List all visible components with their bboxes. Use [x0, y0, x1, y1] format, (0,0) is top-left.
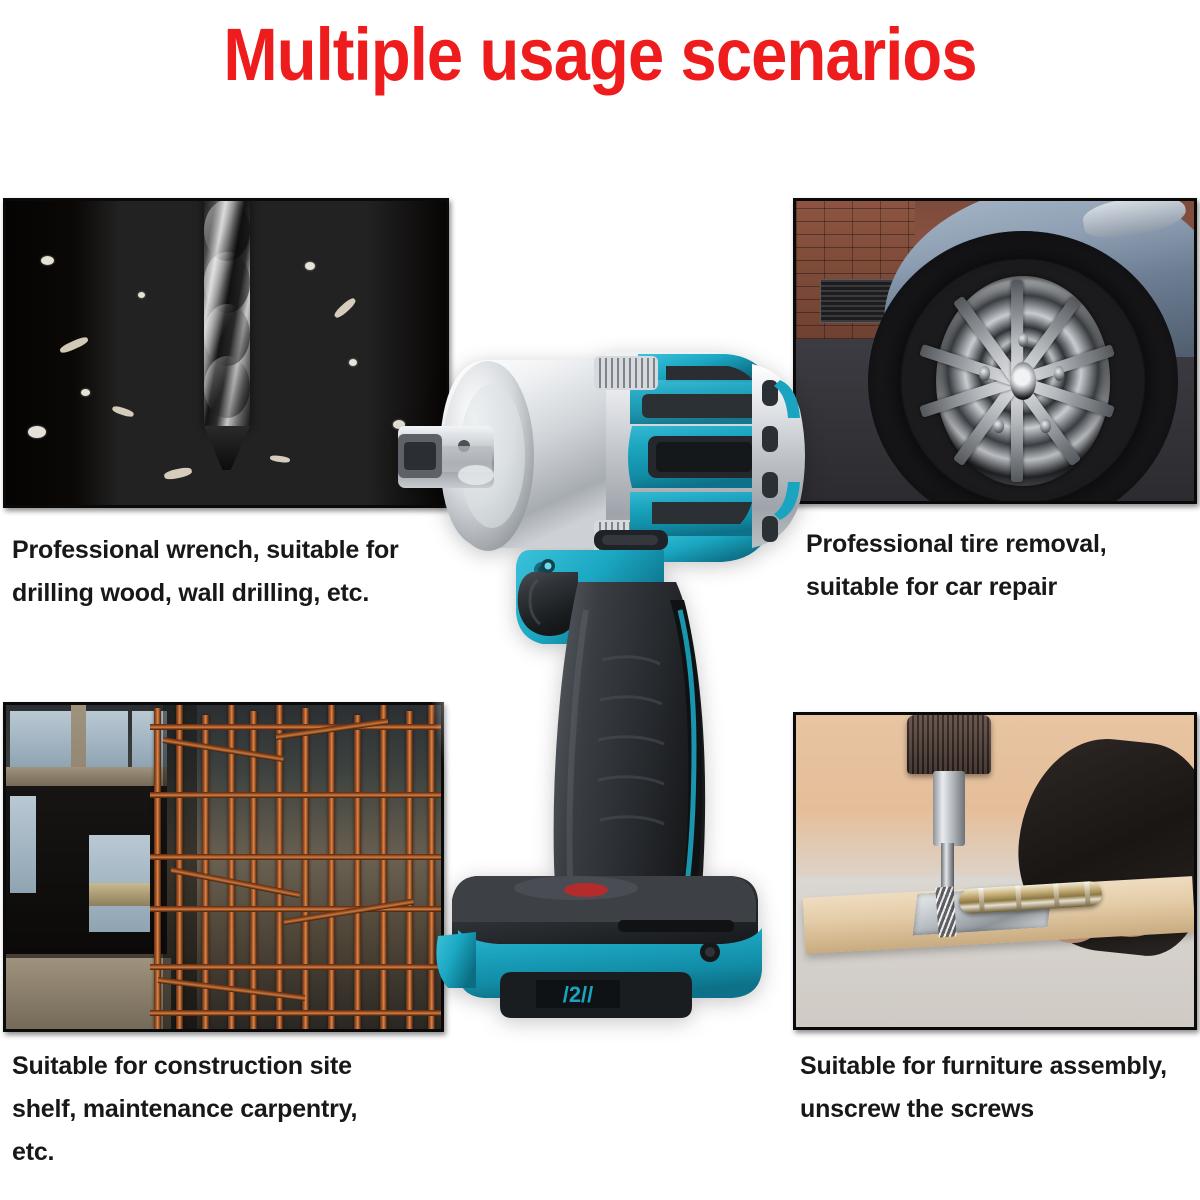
- caption-bottom-right: Suitable for furniture assembly, unscrew…: [800, 1045, 1192, 1131]
- caption-line: etc.: [12, 1131, 432, 1174]
- caption-line: Professional wrench, suitable for: [12, 529, 442, 572]
- drill-bit-icon: [204, 198, 250, 432]
- caption-line: drilling wood, wall drilling, etc.: [12, 572, 442, 615]
- caption-top-right: Professional tire removal, suitable for …: [806, 523, 1191, 609]
- furniture-hinge-screw-photo: [796, 715, 1194, 1027]
- caption-line: shelf, maintenance carpentry,: [12, 1088, 432, 1131]
- square-drive-anvil: [398, 426, 494, 488]
- page-title: Multiple usage scenarios: [72, 8, 1128, 102]
- bit-holder-icon: [933, 771, 965, 846]
- led-work-light: [541, 559, 555, 573]
- trigger[interactable]: [518, 572, 578, 636]
- product-infographic-page: Multiple usage scenarios: [0, 0, 1200, 1200]
- caption-line: Suitable for construction site: [12, 1045, 432, 1088]
- photo-panel-top-right: [793, 198, 1197, 504]
- caption-line: Suitable for furniture assembly,: [800, 1045, 1192, 1088]
- cordless-brushless-impact-wrench: /2//: [380, 230, 840, 1040]
- caption-top-left: Professional wrench, suitable for drilli…: [12, 529, 442, 615]
- caption-bottom-left: Suitable for construction site shelf, ma…: [12, 1045, 432, 1174]
- photo-panel-bottom-right: [793, 712, 1197, 1030]
- caption-line: unscrew the screws: [800, 1088, 1192, 1131]
- alloy-rim-icon: [936, 276, 1110, 486]
- cooling-vents: [752, 364, 805, 548]
- screw-icon: [936, 886, 957, 937]
- construction-scaffolding-photo: [6, 705, 441, 1029]
- caption-line: suitable for car repair: [806, 566, 1191, 609]
- caption-line: Professional tire removal,: [806, 523, 1191, 566]
- car-wheel-photo: [796, 201, 1194, 501]
- svg-text:/2//: /2//: [563, 982, 594, 1007]
- photo-panel-bottom-left: [3, 702, 444, 1032]
- direction-rocker-switch[interactable]: [594, 530, 668, 550]
- drill-chuck-icon: [907, 715, 991, 774]
